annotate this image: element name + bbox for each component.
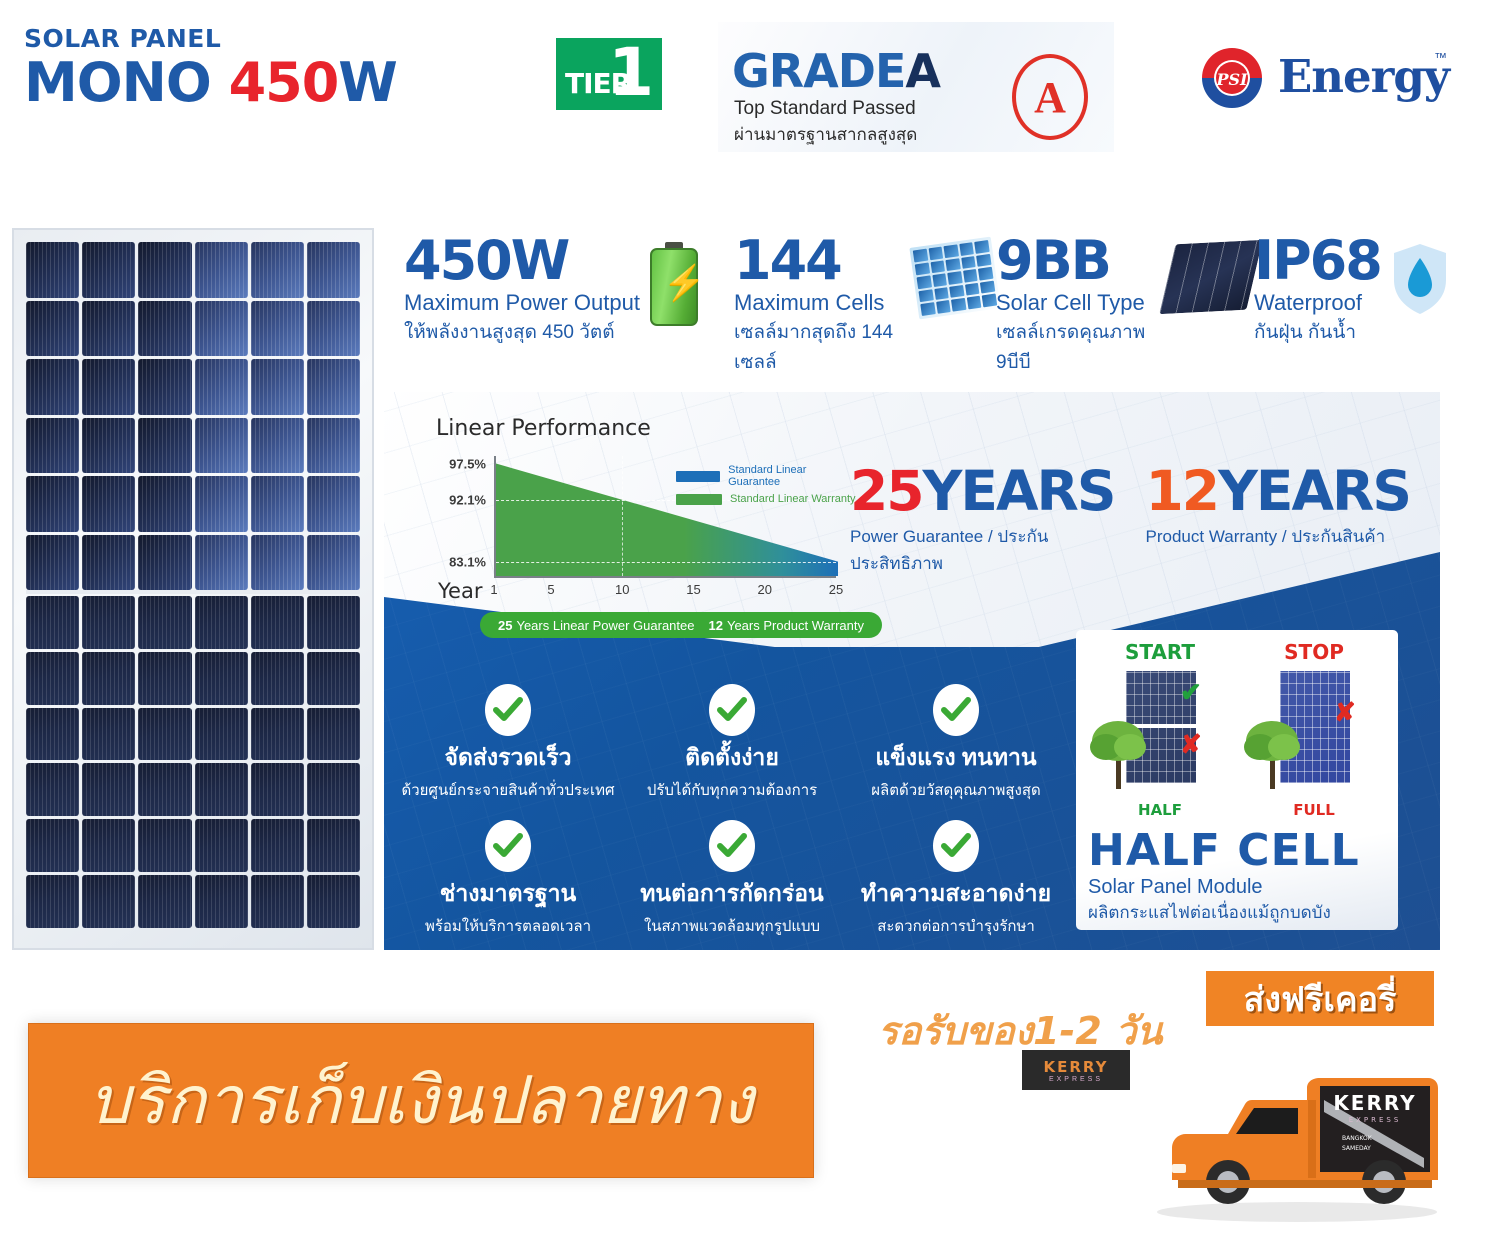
product-title-mono: MONO (24, 51, 211, 114)
legend-swatch-warranty (676, 494, 722, 505)
warranty-item-product: 12YEARS Product Warranty / ประกันสินค้า (1146, 464, 1410, 577)
svg-text:PSI: PSI (1215, 70, 1248, 89)
panel-cell (251, 596, 304, 649)
warranty-power-headline: 25YEARS (850, 464, 1118, 519)
mini-panel-cell (975, 240, 990, 253)
feature-subtitle: ด้วยศูนย์กระจายสินค้าทั่วประเทศ (396, 778, 620, 802)
panel-cell (195, 476, 248, 532)
spec-label-waterproof-th: กันฝุ่น กันน้ำ (1254, 317, 1381, 347)
mini-panel-cell (946, 258, 961, 271)
check-icon (709, 684, 755, 736)
warranty-power-subtitle: Power Guarantee / ประกันประสิทธิภาพ (850, 523, 1118, 577)
panel-cell (82, 652, 135, 705)
warranty-product-subtitle: Product Warranty / ประกันสินค้า (1146, 523, 1410, 550)
solar-cell-icon (1168, 242, 1254, 312)
panel-cell (26, 476, 79, 532)
spec-highlight-row: 450W Maximum Power Output ให้พลังงานสูงส… (404, 236, 1480, 366)
panel-cell (82, 301, 135, 357)
panel-cell (307, 535, 360, 591)
panel-cell (26, 819, 79, 872)
mini-panel-cell (965, 283, 980, 296)
chart-y-tick-label: 97.5% (449, 456, 486, 471)
tier1-badge: 1 TIER (556, 38, 662, 110)
panel-cell (195, 418, 248, 474)
solar-panel-icon (914, 242, 996, 314)
check-icon (485, 684, 531, 736)
panel-cell (138, 418, 191, 474)
mini-panel-cell (951, 298, 966, 311)
panel-cell (26, 708, 79, 761)
panel-cell (82, 819, 135, 872)
warranty-power-number: 25 (850, 459, 923, 523)
panel-cell (138, 359, 191, 415)
svg-text:SAMEDAY: SAMEDAY (1342, 1145, 1371, 1152)
psi-circular-arrow-icon: PSI (1196, 42, 1268, 114)
feature-list: จัดส่งรวดเร็ว ด้วยศูนย์กระจายสินค้าทั่วป… (396, 684, 1068, 950)
spec-label-waterproof-en: Waterproof (1254, 290, 1381, 316)
warranty-product-unit: YEARS (1218, 459, 1410, 523)
feature-title: ทนต่อการกัดกร่อน (620, 876, 844, 912)
chart-y-tick-label: 83.1% (449, 554, 486, 569)
mini-panel-cell (976, 253, 991, 266)
red-x-icon: ✘ (1180, 729, 1202, 760)
chart-x-tick-label: 25 (829, 582, 843, 597)
mini-panel-cell (918, 289, 933, 302)
feature-subtitle: พร้อมให้บริการตลอดเวลา (396, 914, 620, 938)
warranty-product-number: 12 (1146, 459, 1219, 523)
panel-cell (195, 708, 248, 761)
panel-cell (26, 242, 79, 298)
panel-cell (195, 242, 248, 298)
chart-y-tick-label: 92.1% (449, 493, 486, 508)
panel-cell (138, 535, 191, 591)
panel-cell (138, 652, 191, 705)
spec-label-power-en: Maximum Power Output (404, 290, 640, 316)
panel-cell (251, 819, 304, 872)
mini-panel-cell (917, 276, 932, 289)
panel-cell (138, 875, 191, 928)
mini-panel-cell (961, 256, 976, 269)
linear-performance-chart: Linear Performance 97.5%92.1%83.1% 15101… (436, 416, 856, 646)
chart-x-tick-label: 5 (547, 582, 554, 597)
feature-subtitle: ผลิตด้วยวัสดุคุณภาพสูงสุด (844, 778, 1068, 802)
panel-cell (26, 875, 79, 928)
mini-panel-cell (959, 242, 974, 255)
feature-title: จัดส่งรวดเร็ว (396, 740, 620, 776)
panel-cell (26, 596, 79, 649)
panel-cell (307, 418, 360, 474)
warranty-item-power: 25YEARS Power Guarantee / ประกันประสิทธิ… (850, 464, 1118, 577)
feature-title: แข็งแรง ทนทาน (844, 740, 1068, 776)
feature-subtitle: ปรับได้กับทุกความต้องการ (620, 778, 844, 802)
pill-guarantee-text: Years Linear Power Guarantee (516, 618, 694, 633)
spec-value-cells: 144 (734, 236, 904, 286)
feature-item-easy-install: ติดตั้งง่าย ปรับได้กับทุกความต้องการ (620, 684, 844, 802)
legend-item-guarantee: Standard Linear Guarantee (676, 464, 856, 488)
spec-label-cell-type-en: Solar Cell Type (996, 290, 1158, 316)
pill-warranty-years: 12 (709, 618, 723, 633)
half-cell-start-label: START (1088, 640, 1232, 664)
psi-energy-logo: PSI Energy ™ (1196, 42, 1456, 114)
mini-panel-cell (915, 262, 930, 275)
feature-subtitle: ในสภาพแวดล้อมทุกรูปแบบ (620, 914, 844, 938)
svg-text:BANGKOK: BANGKOK (1342, 1135, 1373, 1142)
panel-cell (138, 476, 191, 532)
mini-panel-cell (949, 285, 964, 298)
panel-cells-upper-half (26, 242, 360, 590)
panel-cell (82, 535, 135, 591)
page-title: MONO 450W (24, 55, 397, 112)
panel-cell (195, 652, 248, 705)
warranty-summary-pill: 25 Years Linear Power Guarantee 12 Years… (480, 612, 882, 638)
chart-x-tick-label: 15 (686, 582, 700, 597)
panel-cell (195, 819, 248, 872)
panel-cell (138, 763, 191, 816)
half-cell-title: HALF CELL (1088, 825, 1386, 876)
feature-subtitle: สะดวกต่อการบำรุงรักษา (844, 914, 1068, 938)
chart-gridline (496, 562, 836, 563)
panel-cell (26, 763, 79, 816)
kerry-delivery-truck-image: KERRY EXPRESS BANGKOK SAMEDAY (1132, 1040, 1452, 1225)
mini-panel-cell (980, 280, 995, 293)
legend-swatch-guarantee (676, 471, 720, 482)
grade-word: GRADE (732, 44, 905, 98)
panel-cell (82, 476, 135, 532)
mini-panel-cell (944, 244, 959, 257)
product-eyebrow: SOLAR PANEL (24, 24, 397, 53)
feature-title: ทำความสะอาดง่าย (844, 876, 1068, 912)
psi-brand-name: Energy (1278, 50, 1449, 103)
svg-text:KERRY: KERRY (1333, 1091, 1416, 1115)
feature-title: ติดตั้งง่าย (620, 740, 844, 776)
info-panel: Linear Performance 97.5%92.1%83.1% 15101… (384, 392, 1440, 950)
chart-title: Linear Performance (436, 416, 856, 441)
green-check-icon: ✔ (1180, 677, 1202, 708)
panel-cell (138, 819, 191, 872)
mini-panel-cell (982, 294, 997, 307)
mini-panel-cell (963, 269, 978, 282)
panel-cell (307, 242, 360, 298)
chart-x-axis (494, 576, 836, 578)
panel-cell (195, 535, 248, 591)
spec-label-cells-th: เซลล์มากสุดถึง 144 เซลล์ (734, 317, 904, 377)
kerry-logo-name: KERRY (1043, 1058, 1108, 1076)
panel-cell (82, 763, 135, 816)
half-cell-subtitle-en: Solar Panel Module (1088, 876, 1386, 899)
grade-headline: GRADEA (732, 44, 940, 98)
mini-panel-cell (930, 260, 945, 273)
chart-x-axis-label: Year (438, 579, 482, 603)
panel-cell (138, 596, 191, 649)
mini-panel-cell (932, 273, 947, 286)
half-cell-foot-label: HALF (1088, 801, 1232, 819)
red-x-icon: ✘ (1334, 697, 1356, 728)
free-shipping-badge: ส่งฟรีเคอรี่ (1206, 968, 1434, 1026)
warranty-power-unit: YEARS (923, 459, 1115, 523)
panel-cell (26, 535, 79, 591)
panel-cell (307, 819, 360, 872)
grade-subtitle-en: Top Standard Passed (734, 98, 916, 120)
mini-panel-cell (967, 296, 982, 309)
product-title-block: SOLAR PANEL MONO 450W (24, 24, 397, 112)
panel-cell (251, 359, 304, 415)
panel-cell (251, 875, 304, 928)
grade-a-badge: GRADEA Top Standard Passed ผ่านมาตรฐานสา… (718, 22, 1114, 152)
panel-cell (307, 652, 360, 705)
feature-item-durable: แข็งแรง ทนทาน ผลิตด้วยวัสดุคุณภาพสูงสุด (844, 684, 1068, 802)
panel-cell (251, 301, 304, 357)
spec-item-cells: 144 Maximum Cells เซลล์มากสุดถึง 144 เซล… (734, 236, 996, 366)
mini-panel-cell (920, 303, 935, 316)
half-cell-stop-label: STOP (1242, 640, 1386, 664)
psi-trademark: ™ (1434, 50, 1447, 65)
kerry-express-logo: KERRY EXPRESS (1022, 1050, 1130, 1090)
warranty-product-headline: 12YEARS (1146, 464, 1410, 519)
grade-subtitle-th: ผ่านมาตรฐานสากลสูงสุด (734, 121, 917, 148)
chart-x-tick-label: 10 (615, 582, 629, 597)
check-icon (709, 820, 755, 872)
spec-value-cell-type: 9BB (996, 236, 1158, 286)
panel-cell (251, 418, 304, 474)
svg-text:EXPRESS: EXPRESS (1349, 1116, 1402, 1124)
header: SOLAR PANEL MONO 450W 1 TIER GRADEA Top … (0, 0, 1492, 175)
tree-icon (1090, 707, 1148, 793)
grade-circle-a-icon: A (1012, 54, 1088, 140)
battery-icon: ⚡ (650, 242, 698, 326)
spec-label-cells-en: Maximum Cells (734, 290, 904, 316)
spec-label-cell-type-th: เซลล์เกรดคุณภาพ 9บีบี (996, 317, 1158, 377)
free-shipping-text: ส่งฟรีเคอรี่ (1244, 972, 1397, 1026)
panel-cell (195, 301, 248, 357)
check-icon (933, 684, 979, 736)
pill-guarantee-years: 25 (498, 618, 512, 633)
feature-row-1: จัดส่งรวดเร็ว ด้วยศูนย์กระจายสินค้าทั่วป… (396, 684, 1068, 802)
panel-cell (195, 763, 248, 816)
panel-cell (195, 359, 248, 415)
full-cell-foot-label: FULL (1242, 801, 1386, 819)
feature-item-standard-technician: ช่างมาตรฐาน พร้อมให้บริการตลอดเวลา (396, 820, 620, 938)
check-icon (485, 820, 531, 872)
half-cell-subtitle-th: ผลิตกระแสไฟต่อเนื่องแม้ถูกบดบัง (1088, 899, 1386, 926)
panel-cell (251, 708, 304, 761)
mini-panel-cell (936, 300, 951, 313)
chart-gridline-vertical (622, 456, 623, 576)
spec-item-waterproof: IP68 Waterproof กันฝุ่น กันน้ำ (1254, 236, 1449, 366)
water-shield-icon (1391, 242, 1449, 321)
product-title-watt: 450 (229, 51, 339, 114)
panel-cell (307, 596, 360, 649)
mini-panel-cell (928, 247, 943, 260)
legend-item-warranty: Standard Linear Warranty (676, 493, 856, 505)
feature-item-fast-delivery: จัดส่งรวดเร็ว ด้วยศูนย์กระจายสินค้าทั่วป… (396, 684, 620, 802)
solar-panel-product-image (12, 228, 374, 950)
tree-icon (1244, 707, 1302, 793)
panel-cell (82, 875, 135, 928)
panel-cells-lower-half (26, 596, 360, 928)
panel-cell (307, 359, 360, 415)
grade-letter: A (905, 44, 940, 98)
panel-cell (307, 708, 360, 761)
panel-cell (26, 301, 79, 357)
warranty-years-row: 25YEARS Power Guarantee / ประกันประสิทธิ… (850, 464, 1410, 577)
panel-cell (82, 418, 135, 474)
spec-label-power-th: ให้พลังงานสูงสุด 450 วัตต์ (404, 317, 640, 347)
panel-cell (26, 359, 79, 415)
half-cell-column-full: STOP ✘ FULL (1242, 640, 1386, 819)
kerry-logo-sub: EXPRESS (1049, 1076, 1103, 1083)
chart-legend: Standard Linear Guarantee Standard Linea… (676, 464, 856, 510)
spec-value-waterproof: IP68 (1254, 236, 1381, 286)
pill-warranty-text: Years Product Warranty (727, 618, 864, 633)
panel-cell (26, 652, 79, 705)
panel-cell (251, 476, 304, 532)
panel-cell (138, 301, 191, 357)
panel-cell (251, 242, 304, 298)
mini-panel-cell (978, 267, 993, 280)
panel-cell (26, 418, 79, 474)
cod-banner-text: บริการเก็บเงินปลายทาง (89, 1048, 754, 1153)
panel-cell (307, 301, 360, 357)
panel-cell (251, 763, 304, 816)
panel-cell (82, 596, 135, 649)
panel-cell (138, 242, 191, 298)
panel-cell (82, 242, 135, 298)
panel-cell (195, 875, 248, 928)
panel-cell (307, 476, 360, 532)
chart-y-axis (494, 456, 496, 576)
panel-cell (82, 359, 135, 415)
feature-item-easy-clean: ทำความสะอาดง่าย สะดวกต่อการบำรุงรักษา (844, 820, 1068, 938)
product-title-unit: W (338, 51, 397, 114)
mini-panel-cell (947, 271, 962, 284)
mini-panel-cell (934, 287, 949, 300)
panel-busbar (26, 590, 360, 594)
panel-cell (307, 763, 360, 816)
spec-value-power: 450W (404, 236, 640, 286)
spec-item-power: 450W Maximum Power Output ให้พลังงานสูงส… (404, 236, 734, 366)
check-icon (933, 820, 979, 872)
cash-on-delivery-banner: บริการเก็บเงินปลายทาง (28, 1023, 814, 1178)
panel-cell (251, 535, 304, 591)
half-cell-card: START ✔ ✘ HALF STOP (1076, 630, 1398, 930)
feature-item-corrosion-resistant: ทนต่อการกัดกร่อน ในสภาพแวดล้อมทุกรูปแบบ (620, 820, 844, 938)
panel-cell (251, 652, 304, 705)
panel-cell (82, 708, 135, 761)
panel-cell (307, 875, 360, 928)
feature-row-2: ช่างมาตรฐาน พร้อมให้บริการตลอดเวลา ทนต่อ… (396, 820, 1068, 938)
mini-panel-cell (913, 249, 928, 262)
panel-cell (195, 596, 248, 649)
chart-x-tick-label: 1 (490, 582, 497, 597)
spec-item-cell-type: 9BB Solar Cell Type เซลล์เกรดคุณภาพ 9บีบ… (996, 236, 1254, 366)
feature-title: ช่างมาตรฐาน (396, 876, 620, 912)
half-cell-column-half: START ✔ ✘ HALF (1088, 640, 1232, 819)
tier1-word: TIER (565, 67, 631, 100)
legend-label-warranty: Standard Linear Warranty (730, 493, 856, 505)
legend-label-guarantee: Standard Linear Guarantee (728, 464, 856, 488)
panel-cell (138, 708, 191, 761)
chart-x-tick-label: 20 (758, 582, 772, 597)
